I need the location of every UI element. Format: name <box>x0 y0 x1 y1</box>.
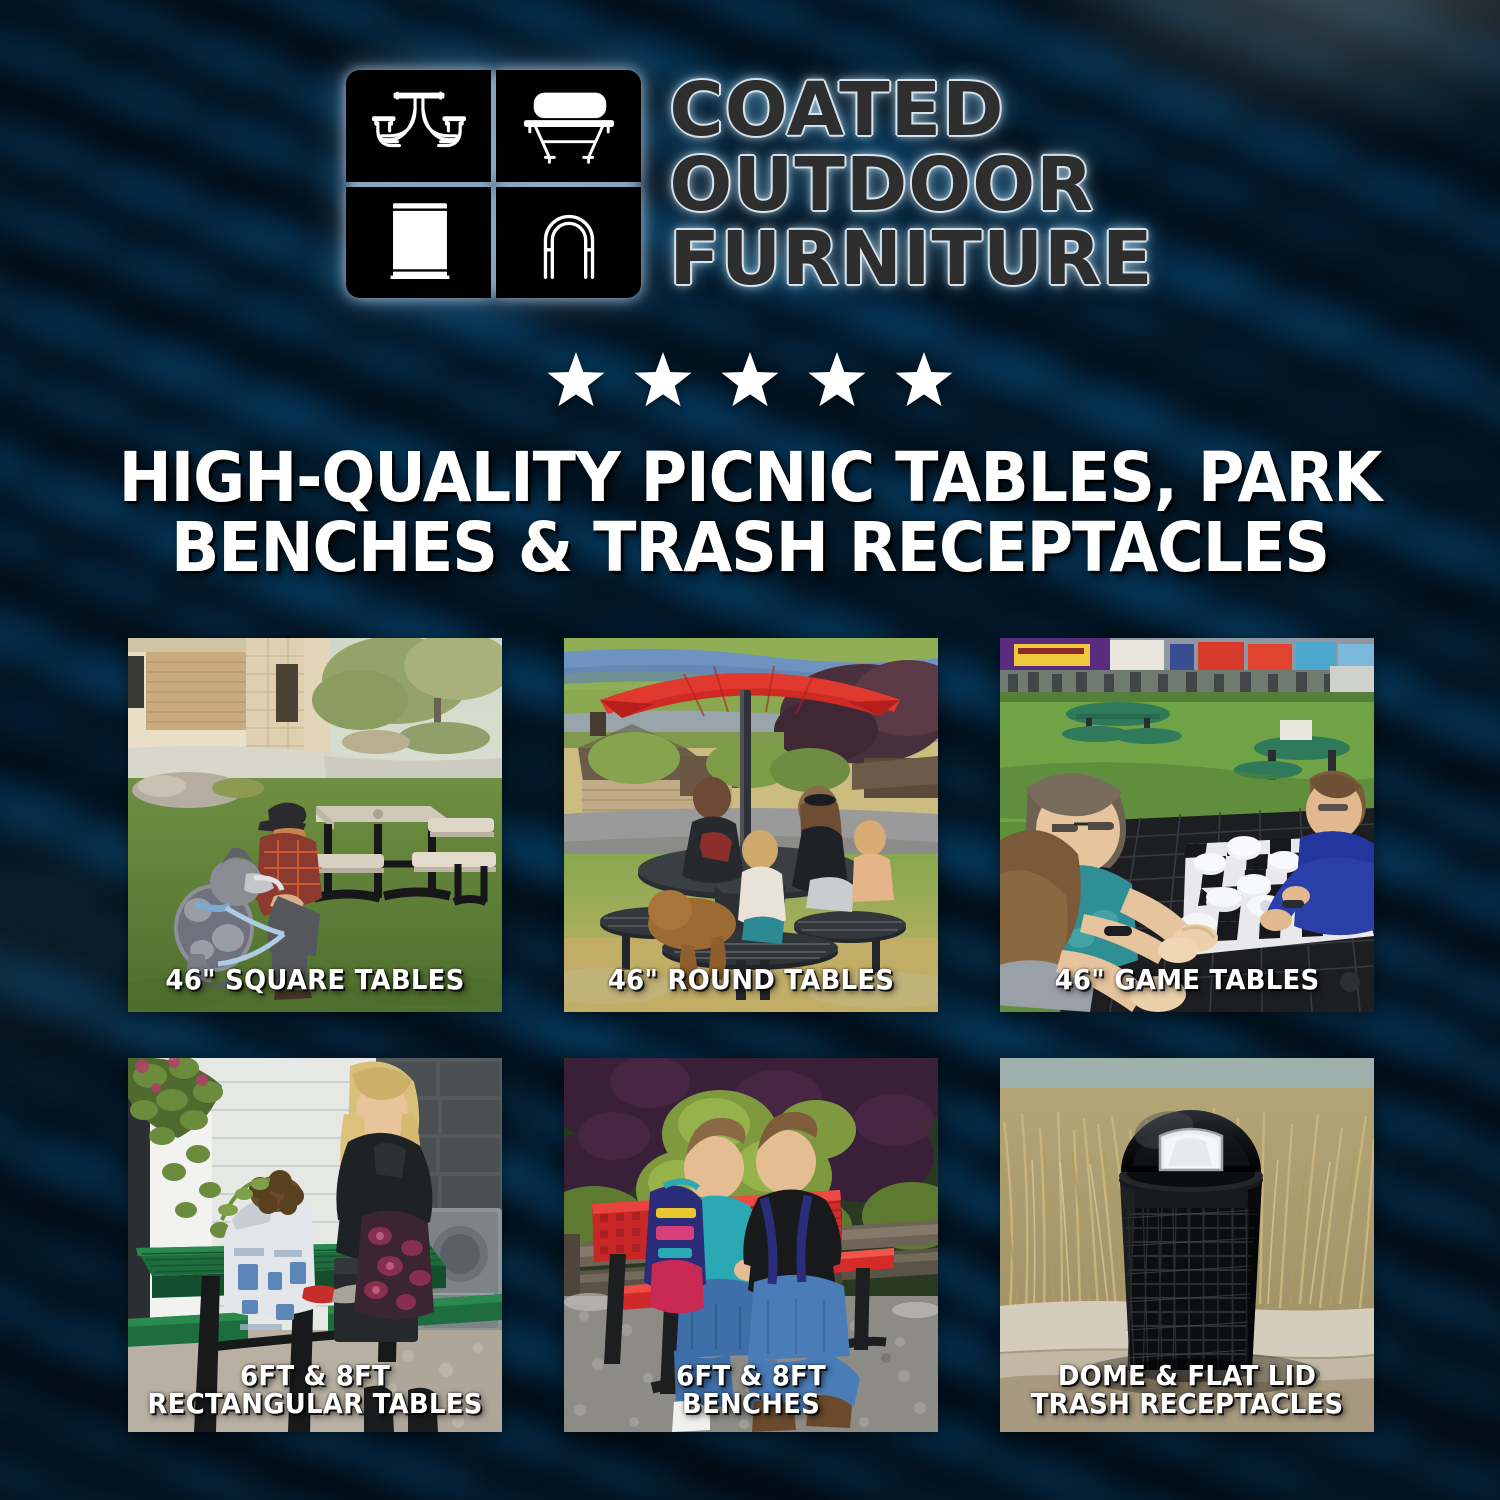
photo-rectangular-tables <box>128 1058 502 1432</box>
product-tile-game-tables[interactable]: 46" GAME TABLES <box>1000 638 1374 1012</box>
photo-game-tables <box>1000 638 1374 1012</box>
star-icon-2 <box>624 352 702 410</box>
product-tile-round-tables[interactable]: 46" ROUND TABLES <box>564 638 938 1012</box>
picnic-table-icon <box>346 70 491 182</box>
star-icon-1 <box>537 352 615 410</box>
wordmark-line-2: OUTDOOR <box>669 149 1153 222</box>
logo-icon-grid <box>346 70 641 298</box>
photo-trash-receptacles <box>1000 1058 1374 1432</box>
promo-banner: COATED OUTDOOR FURNITURE HIGH-QUALITY PI… <box>0 0 1500 1500</box>
star-icon-4 <box>798 352 876 410</box>
headline-line-1: HIGH-QUALITY PICNIC TABLES, PARK <box>115 443 1385 513</box>
product-tile-benches[interactable]: 6FT & 8FT BENCHES <box>564 1058 938 1432</box>
star-icon-5 <box>885 352 963 410</box>
product-tile-square-tables[interactable]: 46" SQUARE TABLES <box>128 638 502 1012</box>
product-tile-trash-receptacles[interactable]: DOME & FLAT LID TRASH RECEPTACLES <box>1000 1058 1374 1432</box>
star-rating <box>0 352 1500 410</box>
product-tile-grid: 46" SQUARE TABLES <box>128 638 1374 1432</box>
wordmark-line-3: FURNITURE <box>669 223 1153 296</box>
trash-receptacle-icon <box>346 187 491 299</box>
wordmark-line-1: COATED <box>669 74 1153 147</box>
brand-wordmark: COATED OUTDOOR FURNITURE <box>669 72 1153 296</box>
star-icon-3 <box>711 352 789 410</box>
photo-round-tables <box>564 638 938 1012</box>
headline-line-2: BENCHES & TRASH RECEPTACLES <box>115 513 1385 583</box>
page-title: HIGH-QUALITY PICNIC TABLES, PARK BENCHES… <box>115 443 1385 584</box>
photo-benches <box>564 1058 938 1432</box>
photo-square-tables <box>128 638 502 1012</box>
brand-logo[interactable]: COATED OUTDOOR FURNITURE <box>0 70 1500 298</box>
park-bench-icon <box>496 70 641 182</box>
bike-rack-arch-icon <box>496 187 641 299</box>
product-tile-rectangular-tables[interactable]: 6FT & 8FT RECTANGULAR TABLES <box>128 1058 502 1432</box>
